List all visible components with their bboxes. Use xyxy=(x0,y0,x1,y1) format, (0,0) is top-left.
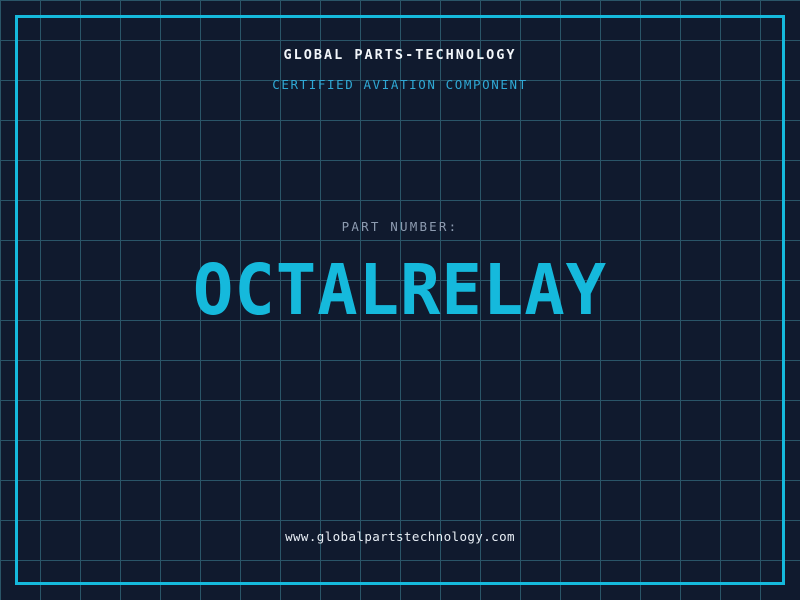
product-card: GLOBAL PARTS-TECHNOLOGY CERTIFIED AVIATI… xyxy=(0,0,800,600)
part-number-value: OCTALRELAY xyxy=(16,253,784,327)
card-header: GLOBAL PARTS-TECHNOLOGY CERTIFIED AVIATI… xyxy=(0,46,800,93)
footer-website-url: www.globalpartstechnology.com xyxy=(0,529,800,545)
brand-subtitle: CERTIFIED AVIATION COMPONENT xyxy=(0,77,800,93)
part-number-label: PART NUMBER: xyxy=(0,219,800,235)
part-number-block: PART NUMBER: OCTALRELAY xyxy=(0,219,800,327)
card-footer: www.globalpartstechnology.com xyxy=(0,529,800,545)
brand-title: GLOBAL PARTS-TECHNOLOGY xyxy=(0,46,800,64)
